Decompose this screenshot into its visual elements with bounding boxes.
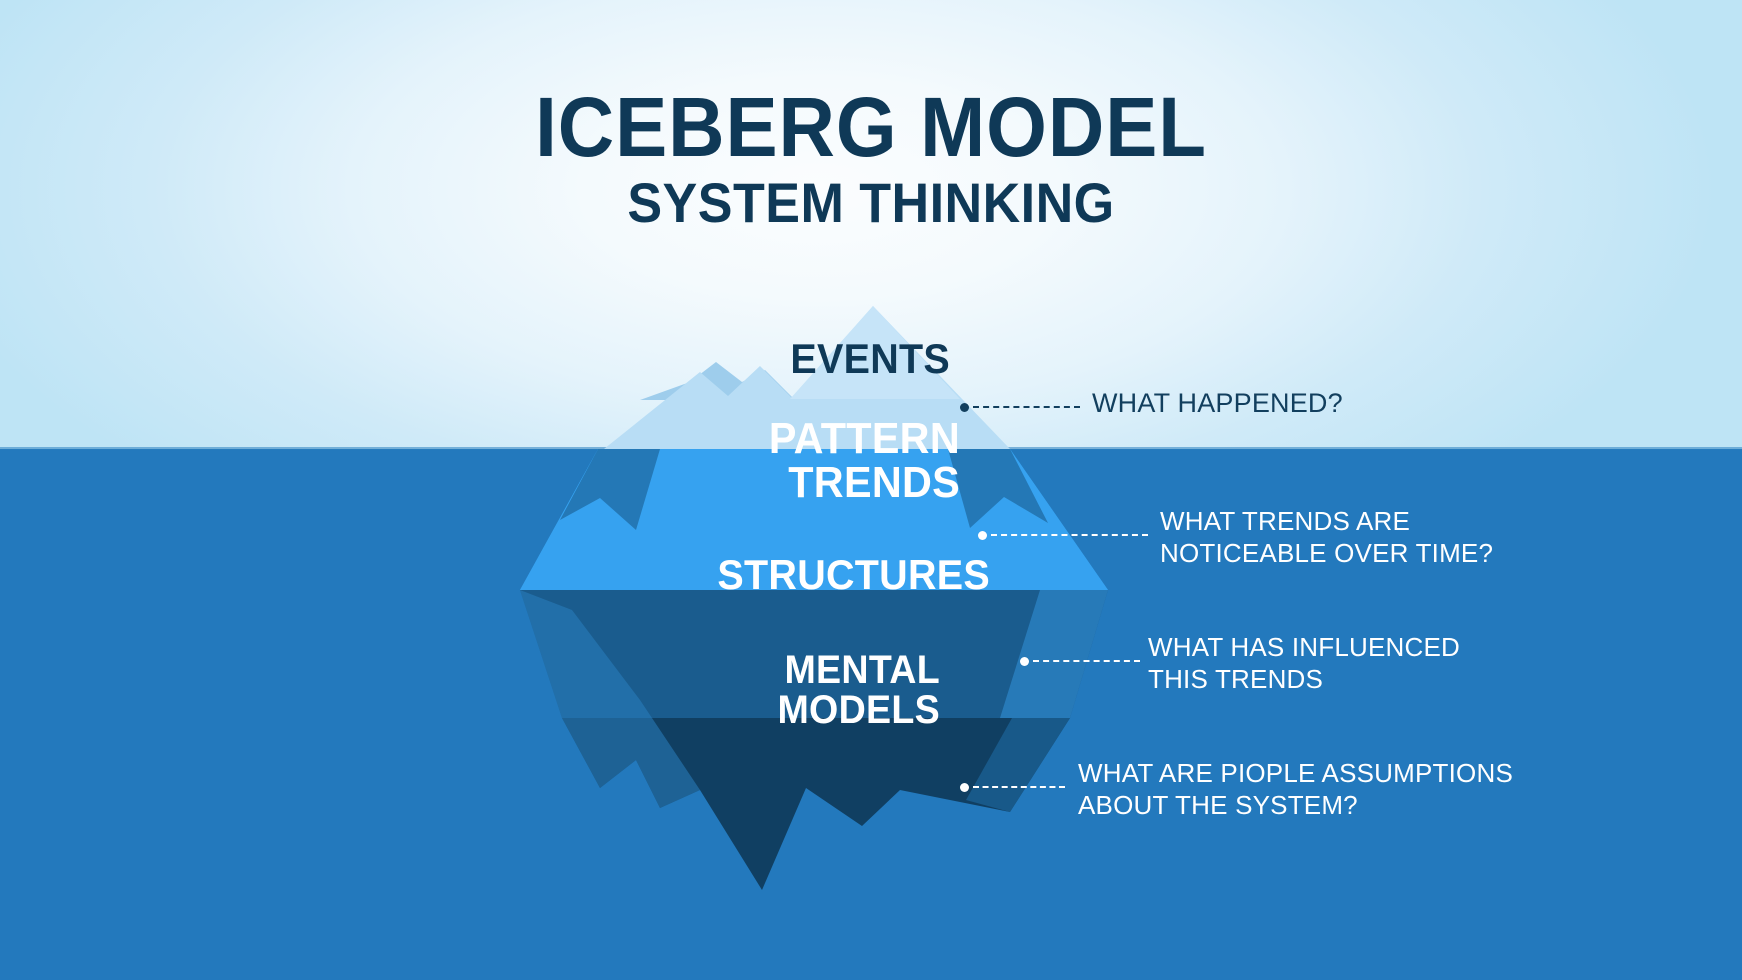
- leader-line-mental-models: [960, 782, 1065, 792]
- layer-description-structures: WHAT HAS INFLUENCED THIS TRENDS: [1148, 632, 1568, 695]
- layer-label-events: EVENTS: [583, 338, 950, 380]
- leader-line-events: [960, 402, 1080, 412]
- leader-dot-pattern-trends: [978, 531, 987, 540]
- leader-dot-structures: [1020, 657, 1029, 666]
- page-subtitle: SYSTEM THINKING: [61, 174, 1681, 231]
- layer-label-pattern-trends: PATTERN TRENDS: [499, 417, 960, 505]
- infographic-canvas: ICEBERG MODEL SYSTEM THINKING EVENTS WHA…: [0, 0, 1742, 980]
- leader-dashes-structures: [1033, 660, 1140, 662]
- leader-dashes-pattern-trends: [991, 534, 1148, 536]
- leader-dot-mental-models: [960, 783, 969, 792]
- layer-label-structures: STRUCTURES: [501, 554, 990, 596]
- leader-dashes-events: [973, 406, 1080, 408]
- layer-label-mental-models: MENTAL MODELS: [498, 650, 940, 730]
- page-title: ICEBERG MODEL: [61, 86, 1681, 168]
- layer-description-events: WHAT HAPPENED?: [1092, 387, 1512, 420]
- leader-dot-events: [960, 403, 969, 412]
- leader-dashes-mental-models: [973, 786, 1065, 788]
- layer-description-pattern-trends: WHAT TRENDS ARE NOTICEABLE OVER TIME?: [1160, 506, 1580, 569]
- leader-line-pattern-trends: [978, 530, 1148, 540]
- layer-description-mental-models: WHAT ARE PIOPLE ASSUMPTIONS ABOUT THE SY…: [1078, 758, 1548, 821]
- leader-line-structures: [1020, 656, 1140, 666]
- title-block: ICEBERG MODEL SYSTEM THINKING: [0, 86, 1742, 231]
